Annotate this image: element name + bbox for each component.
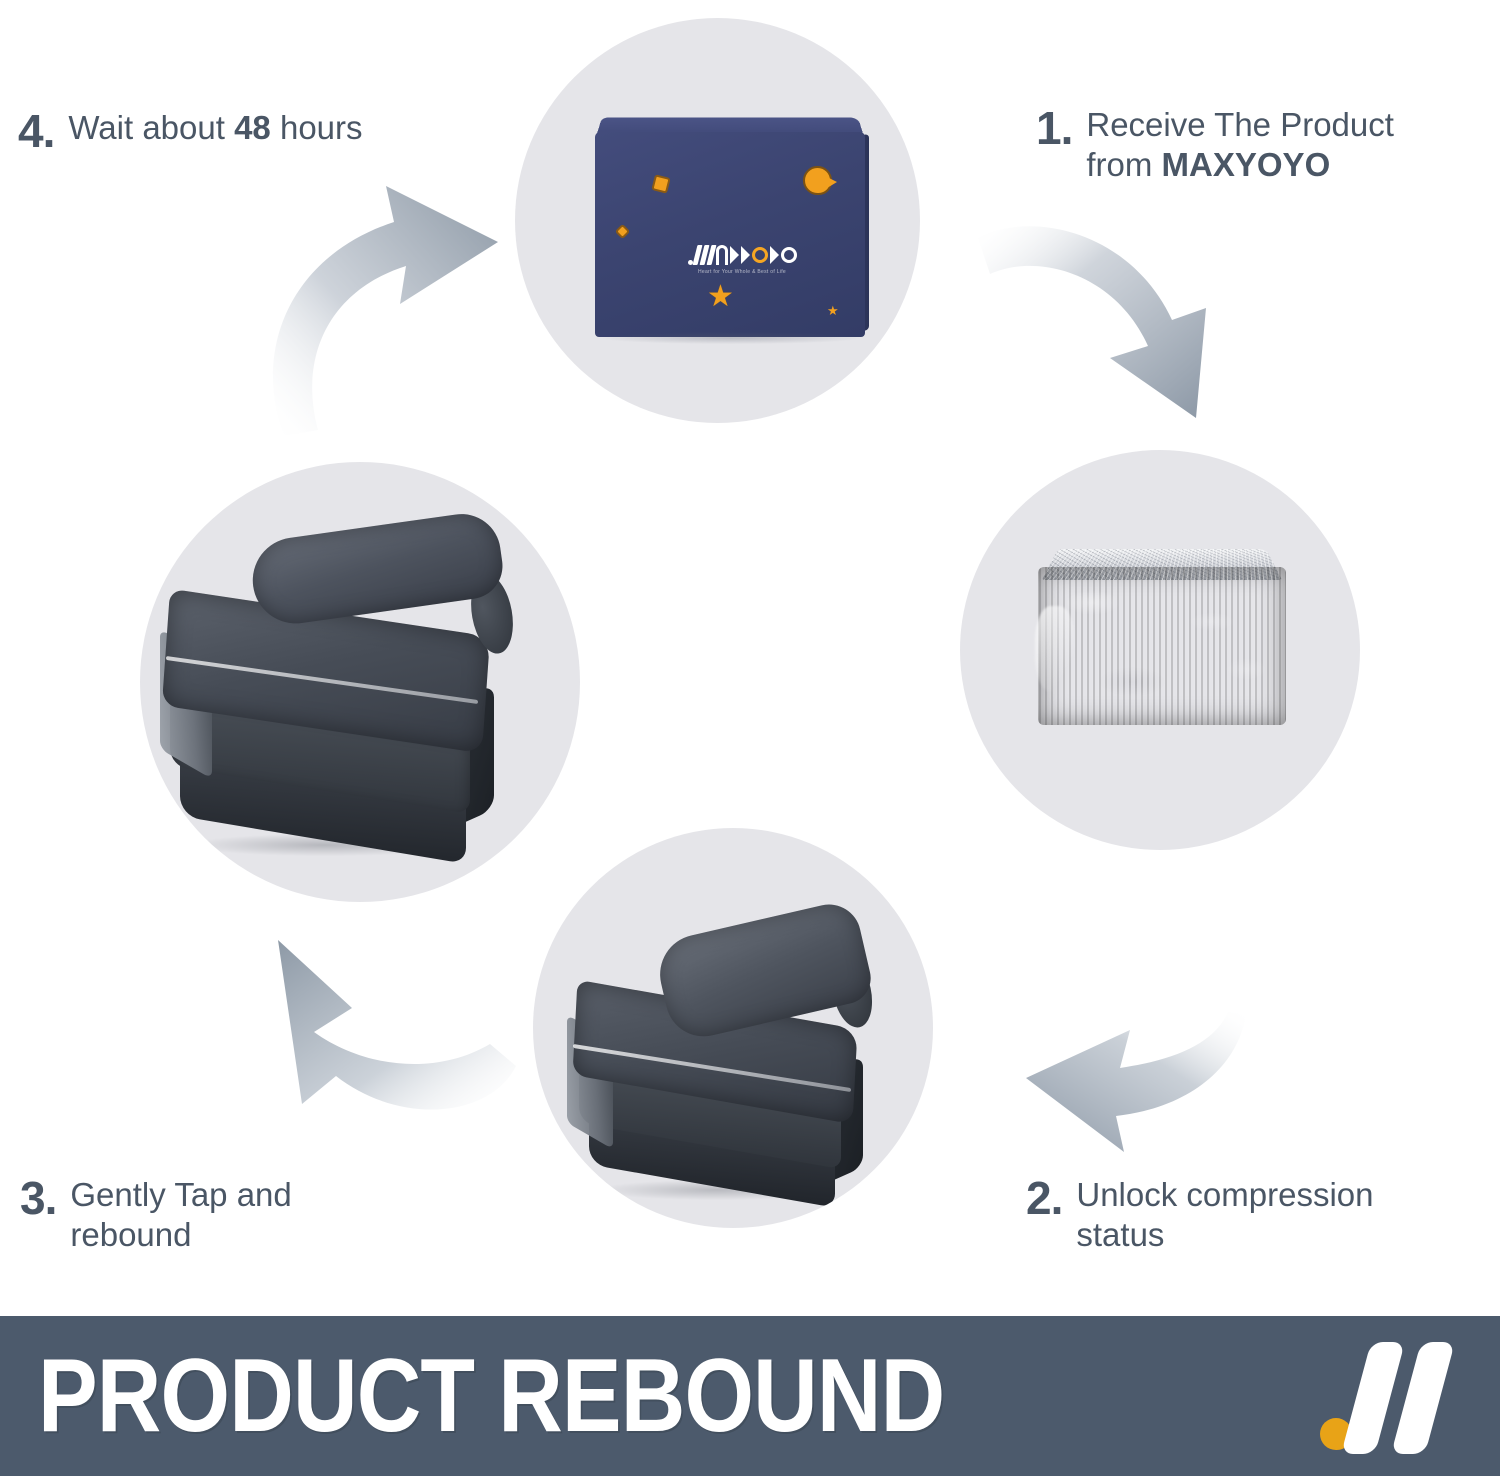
arrow-step4-to-step1	[246, 186, 506, 442]
arrow-step1-to-step2	[960, 200, 1260, 450]
maxyoyo-logo-mark-icon	[1290, 1334, 1470, 1458]
step4-text-after: hours	[271, 109, 363, 146]
step1-text: Receive The Product from MAXYOYO	[1086, 105, 1466, 186]
step1-label: 1. Receive The Product from MAXYOYO	[1036, 105, 1466, 186]
confetti-star-small-icon: ★	[827, 304, 839, 317]
step4-text-before: Wait about	[68, 109, 234, 146]
step3-image-partially-rebounded-sofa	[533, 828, 933, 1228]
block-plastic-sheen	[1035, 606, 1075, 692]
step1-number: 1.	[1036, 105, 1072, 151]
step2-number: 2.	[1026, 1175, 1062, 1221]
block-wrinkle-overlay	[1038, 568, 1286, 726]
step2-text: Unlock compression status	[1076, 1175, 1466, 1256]
infographic-stage: ★ ★ Heart for Your W	[0, 0, 1500, 1300]
arrow-step2-to-step3	[1008, 1012, 1258, 1192]
confetti-circle-icon	[803, 166, 832, 195]
step4-number: 4.	[18, 108, 54, 154]
step4-text-hours: 48	[234, 109, 271, 146]
confetti-star-icon: ★	[707, 282, 734, 312]
confetti-square-icon	[651, 174, 670, 193]
step1-image-shipping-box: ★ ★ Heart for Your W	[515, 18, 920, 423]
step3-text: Gently Tap and rebound	[70, 1175, 410, 1256]
sofa-bolster-pillow	[247, 509, 507, 629]
box-drop-shadow	[603, 332, 859, 344]
step4-text: Wait about 48 hours	[68, 108, 362, 148]
shipping-box-illustration: ★ ★ Heart for Your W	[585, 110, 885, 340]
sofa-backrest-bolster	[652, 898, 876, 1044]
bottom-banner: PRODUCT REBOUND	[0, 1316, 1500, 1476]
step4-image-fully-rebounded-sofa	[140, 462, 580, 902]
banner-title: PRODUCT REBOUND	[38, 1342, 944, 1451]
step2-image-compressed-block	[960, 450, 1360, 850]
confetti-diamond-icon	[615, 224, 631, 240]
step4-label: 4. Wait about 48 hours	[18, 108, 488, 154]
box-front-face: ★ ★ Heart for Your W	[595, 132, 865, 337]
arrow-step3-to-step4	[240, 936, 530, 1146]
maxyoyo-logomark-icon	[647, 244, 837, 266]
logo-bar-2	[1391, 1342, 1455, 1454]
step3-number: 3.	[20, 1175, 56, 1221]
step1-text-brand: MAXYOYO	[1162, 146, 1331, 183]
box-tagline: Heart for Your Whole & Best of Life	[647, 269, 837, 275]
step3-label: 3. Gently Tap and rebound	[20, 1175, 410, 1256]
step2-label: 2. Unlock compression status	[1026, 1175, 1466, 1256]
box-brand-logo: Heart for Your Whole & Best of Life	[647, 244, 837, 275]
compressed-block-illustration	[1038, 522, 1288, 737]
